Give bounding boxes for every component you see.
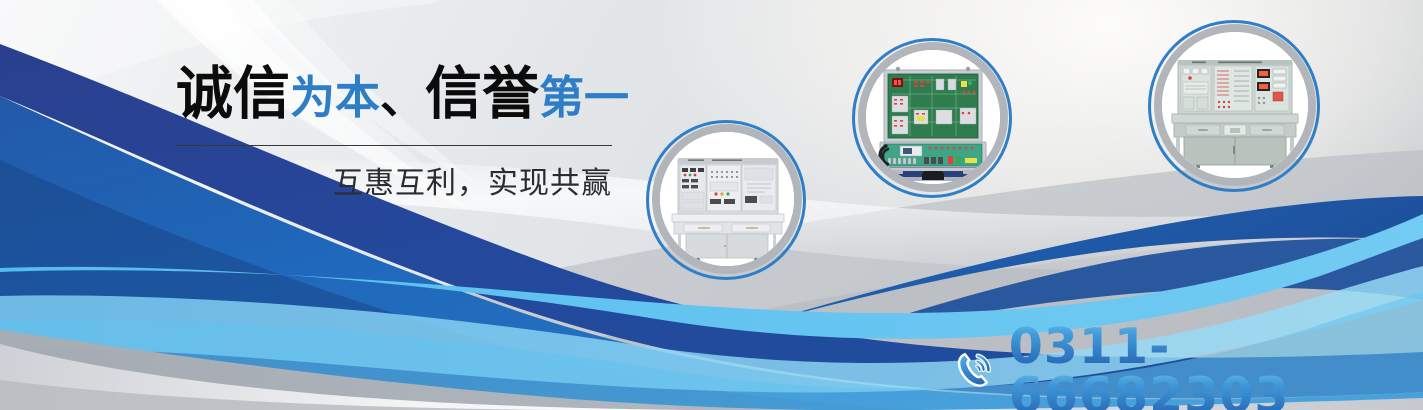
headline-part-1: 诚信 bbox=[176, 61, 290, 127]
circle-3-photo bbox=[1162, 32, 1308, 178]
headline-divider bbox=[176, 145, 612, 146]
contact-phone-block[interactable]: 0311-66682303 0311-66682303 bbox=[950, 322, 1423, 410]
workbench-illustration bbox=[660, 132, 794, 266]
product-circle-2[interactable] bbox=[852, 38, 1012, 198]
experiment-suitcase-illustration bbox=[866, 50, 1000, 184]
page-title: 诚信为本、信誉第一 bbox=[176, 66, 636, 123]
phone-number-wrap: 0311-66682303 0311-66682303 bbox=[1009, 322, 1423, 410]
subtitle: 互惠互利，实现共赢 bbox=[176, 158, 612, 202]
promo-banner: 诚信为本、信誉第一 互惠互利，实现共赢 bbox=[0, 0, 1423, 410]
headline-part-3: 信誉 bbox=[425, 61, 539, 127]
phone-number[interactable]: 0311-66682303 bbox=[1009, 318, 1290, 410]
product-circle-3[interactable] bbox=[1148, 20, 1320, 192]
headline-part-4: 第一 bbox=[539, 71, 629, 124]
product-circle-1[interactable] bbox=[646, 120, 806, 280]
phone-call-icon[interactable] bbox=[950, 345, 999, 397]
headline-separator: 、 bbox=[380, 71, 425, 124]
headline-block: 诚信为本、信誉第一 bbox=[176, 66, 636, 123]
circle-2-photo bbox=[866, 50, 1000, 184]
electrical-bench-illustration bbox=[1162, 32, 1308, 178]
circle-1-photo bbox=[660, 132, 794, 266]
headline-part-2: 为本 bbox=[290, 71, 380, 124]
